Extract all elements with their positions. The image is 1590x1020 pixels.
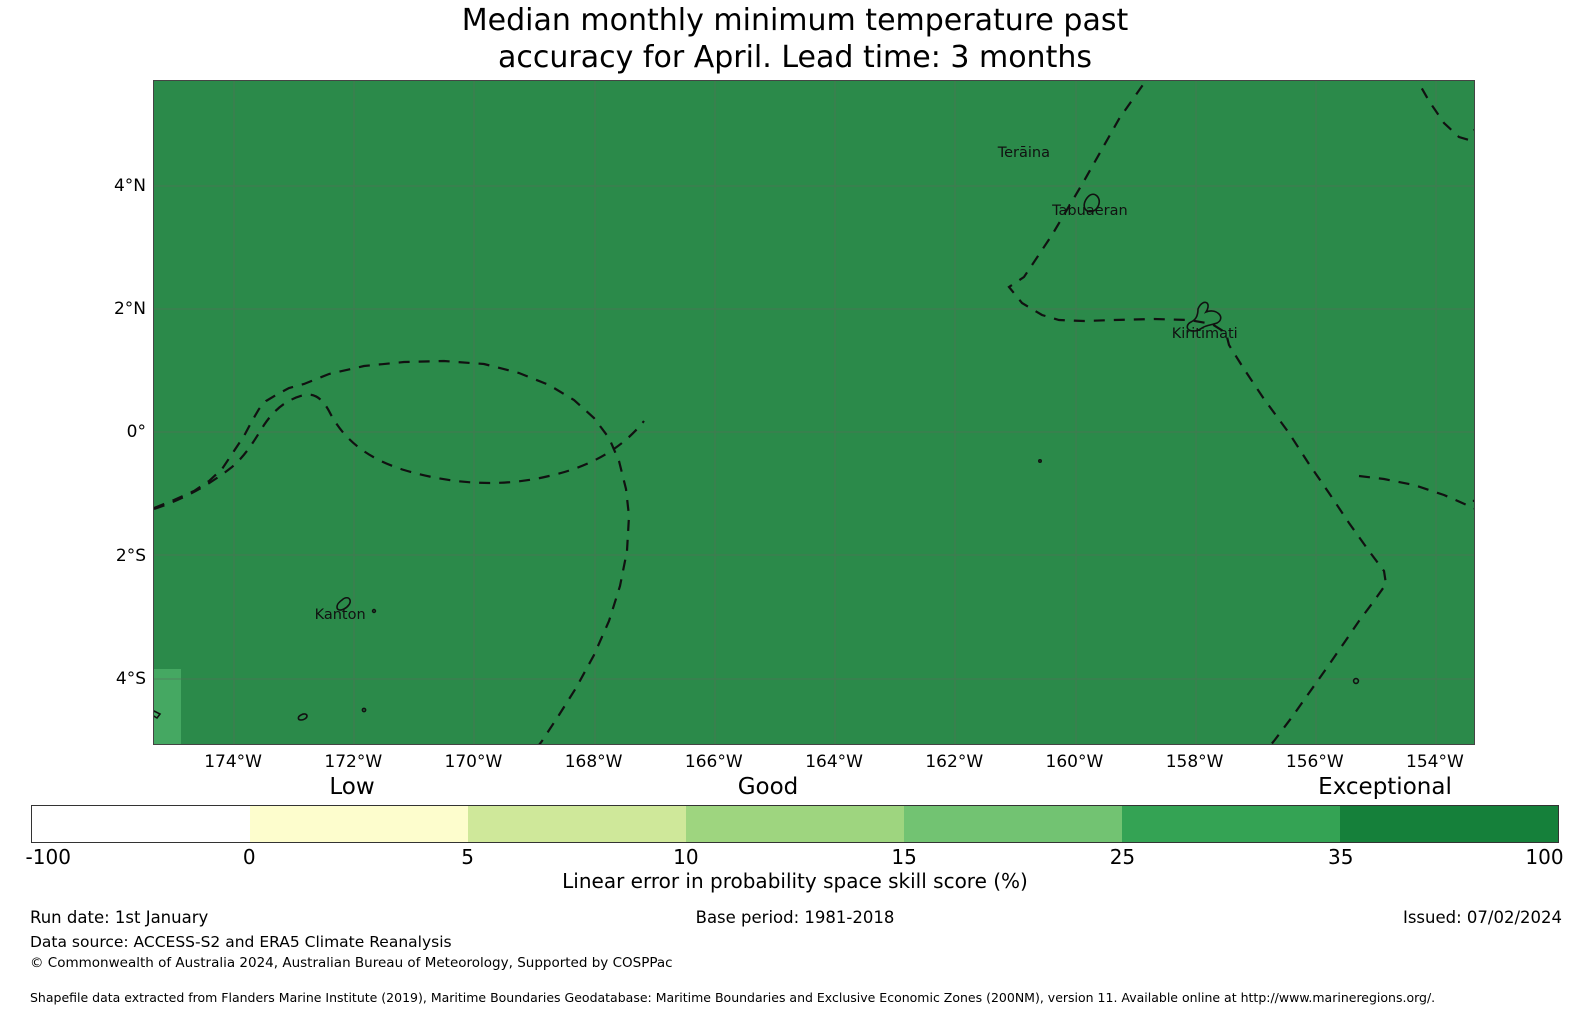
colorbar-tick-15: 15 <box>891 845 916 869</box>
colorbar-axis-label: Linear error in probability space skill … <box>0 869 1590 893</box>
colorbar-tick-100: 100 <box>1525 845 1563 869</box>
map-plot-area[interactable]: Terāina Tabuaeran Kiritimati Kanton <box>153 80 1475 745</box>
band-label-exceptional: Exceptional <box>1318 774 1452 800</box>
y-tick-2s: 2°S <box>1 546 146 566</box>
colorbar-tick-35: 35 <box>1328 845 1353 869</box>
x-tick-168w: 168°W <box>565 752 623 772</box>
colorbar-segment-0 <box>32 806 250 842</box>
colorbar-segment-4 <box>904 806 1122 842</box>
colorbar[interactable] <box>31 805 1559 843</box>
colorbar-tick-5: 5 <box>461 845 474 869</box>
y-tick-2n: 2°N <box>1 299 146 319</box>
footer: Run date: 1st January Base period: 1981-… <box>0 905 1590 1020</box>
island-label-teraina: Terāina <box>998 145 1050 161</box>
colorbar-tick-labels: -100 0 5 10 15 25 35 100 <box>31 845 1559 869</box>
map-figure: Terāina Tabuaeran Kiritimati Kanton 4°N … <box>153 80 1475 745</box>
page-title: Median monthly minimum temperature past … <box>0 2 1590 76</box>
colorbar-segment-1 <box>250 806 468 842</box>
colorbar-segment-6 <box>1340 806 1558 842</box>
colorbar-tick-0: 0 <box>243 845 256 869</box>
y-tick-4n: 4°N <box>1 176 146 196</box>
base-period-text: Base period: 1981-2018 <box>0 908 1590 927</box>
skill-field-base <box>154 81 1475 745</box>
x-tick-156w: 156°W <box>1286 752 1344 772</box>
colorbar-segment-2 <box>468 806 686 842</box>
island-label-kanton: Kanton <box>315 607 366 623</box>
x-tick-160w: 160°W <box>1046 752 1104 772</box>
band-label-good: Good <box>738 774 799 800</box>
x-tick-170w: 170°W <box>445 752 503 772</box>
x-tick-172w: 172°W <box>324 752 382 772</box>
y-tick-0: 0° <box>1 422 146 442</box>
shapefile-attribution-text: Shapefile data extracted from Flanders M… <box>30 990 1435 1005</box>
x-tick-162w: 162°W <box>925 752 983 772</box>
copyright-text: © Commonwealth of Australia 2024, Austra… <box>30 955 673 971</box>
island-label-kiritimati: Kiritimati <box>1172 326 1238 342</box>
x-tick-158w: 158°W <box>1166 752 1224 772</box>
island-label-tabuaeran: Tabuaeran <box>1052 203 1128 219</box>
skill-cell-southwest <box>154 669 181 745</box>
map-canvas <box>154 81 1475 745</box>
x-axis-ticks: 174°W 172°W 170°W 168°W 166°W 164°W 162°… <box>153 752 1475 776</box>
data-source-text: Data source: ACCESS-S2 and ERA5 Climate … <box>30 933 452 951</box>
x-tick-174w: 174°W <box>204 752 262 772</box>
colorbar-segment-5 <box>1122 806 1340 842</box>
issued-date-text: Issued: 07/02/2024 <box>1403 908 1562 927</box>
x-tick-154w: 154°W <box>1406 752 1464 772</box>
y-tick-4s: 4°S <box>1 669 146 689</box>
x-tick-166w: 166°W <box>685 752 743 772</box>
colorbar-tick--100: -100 <box>26 845 71 869</box>
x-tick-164w: 164°W <box>805 752 863 772</box>
colorbar-segment-3 <box>686 806 904 842</box>
band-label-low: Low <box>329 774 374 800</box>
colorbar-tick-10: 10 <box>673 845 698 869</box>
colorbar-tick-25: 25 <box>1110 845 1135 869</box>
